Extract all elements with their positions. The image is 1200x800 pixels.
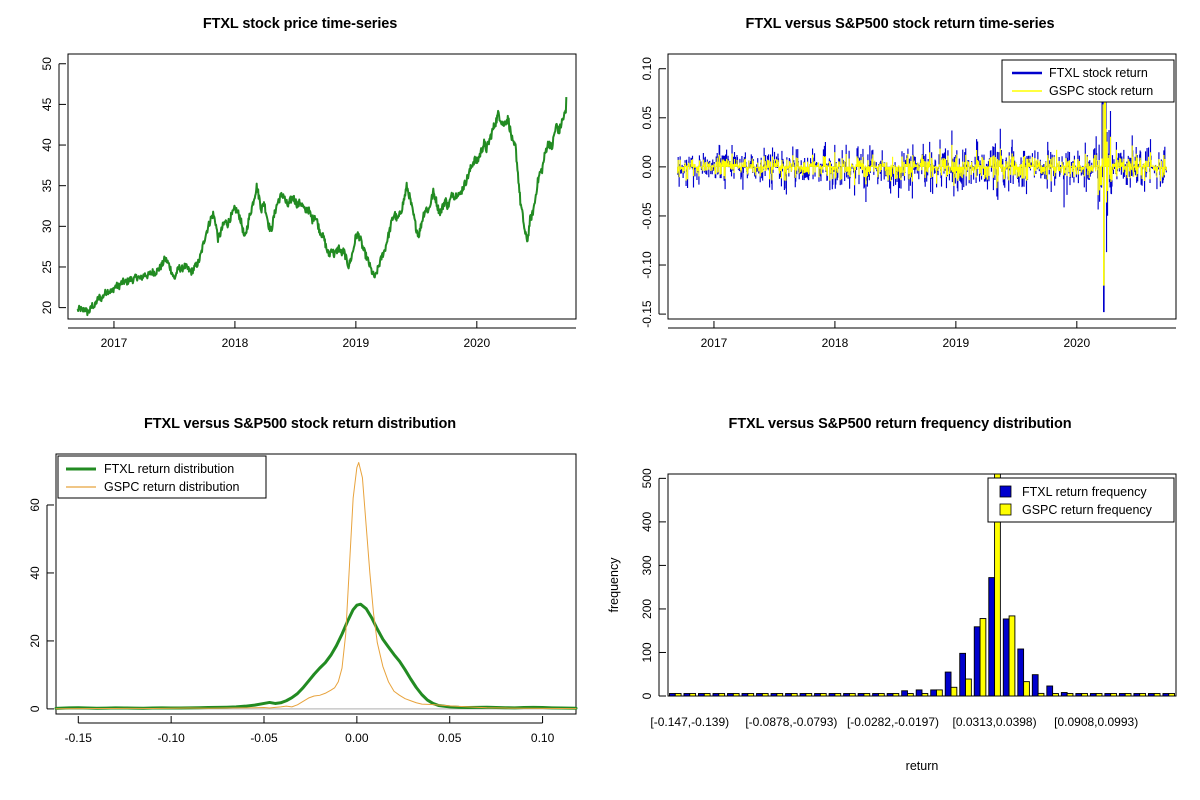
legend-swatch-ftxl-square — [1000, 486, 1011, 497]
bar-ftxl — [916, 690, 922, 696]
bar-ftxl — [1061, 693, 1067, 696]
y-tick-label: 40 — [28, 566, 42, 580]
legend-label-gspc: GSPC return frequency — [1022, 503, 1153, 517]
panel-3-plot: 0204060 -0.15-0.10-0.050.000.050.10 FTXL… — [0, 400, 600, 800]
bar-gspc — [791, 694, 797, 697]
legend-label-ftxl: FTXL stock return — [1049, 66, 1148, 80]
bar-ftxl — [786, 694, 792, 697]
x-tick-label: 0.05 — [438, 731, 462, 745]
legend-swatch-gspc-square — [1000, 504, 1011, 515]
x-tick-label: 0.10 — [531, 731, 555, 745]
bar-gspc — [980, 619, 986, 696]
bar-gspc — [922, 694, 928, 697]
panel-return-distribution: FTXL versus S&P500 stock return distribu… — [0, 400, 600, 800]
bar-gspc — [777, 694, 783, 697]
bar-gspc — [806, 694, 812, 697]
bar-gspc — [704, 694, 710, 697]
bar-ftxl — [873, 694, 879, 697]
bar-gspc — [719, 694, 725, 697]
bar-ftxl — [858, 694, 864, 697]
bar-gspc — [893, 694, 899, 697]
y-tick-label: -0.15 — [640, 300, 654, 328]
bar-ftxl — [684, 694, 690, 697]
panel-4-plot: 0100200300400500 [-0.147,-0.139)[-0.0878… — [600, 400, 1200, 800]
bar-ftxl — [1148, 694, 1154, 697]
bar-gspc — [1067, 694, 1073, 697]
bar-ftxl — [728, 694, 734, 697]
x-tick-label: 0.00 — [345, 731, 369, 745]
bar-gspc — [951, 687, 957, 696]
x-tick-label: [0.0908,0.0993) — [1054, 715, 1138, 729]
bar-ftxl — [815, 694, 821, 697]
y-tick-label: 25 — [40, 260, 54, 274]
x-tick-label: 2020 — [1063, 336, 1090, 350]
bar-gspc — [835, 694, 841, 697]
series-returns — [678, 77, 1167, 313]
x-tick-label: 2018 — [222, 336, 249, 350]
bar-gspc — [1140, 694, 1146, 697]
series-ftxl-price — [78, 97, 567, 315]
y-tick-label: 0 — [640, 692, 654, 699]
legend[interactable]: FTXL stock return GSPC stock return — [1002, 60, 1174, 102]
y-tick-label: 35 — [40, 179, 54, 193]
bar-ftxl — [1018, 649, 1024, 696]
bar-gspc — [762, 694, 768, 697]
bar-ftxl — [1003, 619, 1009, 696]
ftxl-return-spikes-path — [678, 82, 1167, 312]
bar-ftxl — [669, 694, 675, 697]
bar-ftxl — [1119, 694, 1125, 697]
bar-ftxl — [1090, 694, 1096, 697]
bar-ftxl — [931, 690, 937, 696]
bar-ftxl — [1032, 675, 1038, 696]
bar-gspc — [1038, 693, 1044, 696]
y-tick-label: 30 — [40, 219, 54, 233]
x-tick-label: [-0.0282,-0.0197) — [847, 715, 939, 729]
bar-gspc — [733, 694, 739, 697]
legend-label-ftxl: FTXL return frequency — [1022, 485, 1147, 499]
bar-ftxl — [829, 694, 835, 697]
y-axis-label: frequency — [607, 557, 621, 613]
bar-ftxl — [844, 694, 850, 697]
x-tick-label: 2019 — [343, 336, 370, 350]
y-tick-label: 45 — [40, 97, 54, 111]
bar-gspc — [820, 694, 826, 697]
price-line — [78, 97, 567, 315]
bar-gspc — [1154, 694, 1160, 697]
bar-gspc — [937, 690, 943, 696]
y-tick-label: 300 — [640, 555, 654, 575]
x-axis: [-0.147,-0.139)[-0.0878,-0.0793)[-0.0282… — [650, 715, 1138, 729]
y-tick-label: 0 — [28, 705, 42, 712]
bar-gspc — [1169, 694, 1175, 697]
legend[interactable]: FTXL return distribution GSPC return dis… — [58, 456, 266, 498]
bar-gspc — [1053, 694, 1059, 697]
bar-gspc — [849, 694, 855, 697]
figure-grid: FTXL stock price time-series 20253035404… — [0, 0, 1200, 800]
bar-ftxl — [698, 694, 704, 697]
legend-label-gspc: GSPC stock return — [1049, 84, 1153, 98]
y-tick-label: 0.00 — [640, 155, 654, 179]
x-axis: -0.15-0.10-0.050.000.050.10 — [65, 716, 555, 745]
bar-gspc — [878, 694, 884, 697]
bar-gspc — [748, 694, 754, 697]
y-tick-label: 20 — [40, 301, 54, 315]
bar-ftxl — [887, 694, 893, 697]
bar-ftxl — [1105, 694, 1111, 697]
x-axis: 2017201820192020 — [68, 321, 576, 350]
bar-gspc — [690, 694, 696, 697]
series-densities — [56, 463, 576, 709]
x-tick-label: 2019 — [943, 336, 970, 350]
ftxl-return-spikes — [678, 82, 1167, 312]
ftxl-density-line — [56, 604, 576, 708]
y-tick-label: 500 — [640, 468, 654, 488]
panel-ftxl-vs-sp500-returns: FTXL versus S&P500 stock return time-ser… — [600, 0, 1200, 400]
x-tick-label: [-0.147,-0.139) — [650, 715, 729, 729]
panel-2-plot: -0.15-0.10-0.050.000.050.10 201720182019… — [600, 0, 1200, 400]
y-tick-label: 100 — [640, 642, 654, 662]
x-tick-label: -0.10 — [157, 731, 185, 745]
bar-gspc — [1111, 694, 1117, 697]
y-tick-label: -0.10 — [640, 251, 654, 279]
gspc-return-spikes — [678, 77, 1167, 286]
bar-ftxl — [800, 694, 806, 697]
bar-ftxl — [945, 672, 951, 696]
y-tick-label: -0.05 — [640, 202, 654, 230]
x-axis: 2017201820192020 — [668, 321, 1176, 350]
x-tick-label: 2017 — [701, 336, 728, 350]
legend-label-ftxl: FTXL return distribution — [104, 462, 234, 476]
bar-ftxl — [757, 694, 763, 697]
x-tick-label: [0.0313,0.0398) — [953, 715, 1037, 729]
panel-ftxl-stock-price: FTXL stock price time-series 20253035404… — [0, 0, 600, 400]
y-axis: 0204060 — [28, 498, 54, 712]
bar-gspc — [1009, 616, 1015, 696]
bar-gspc — [1096, 694, 1102, 697]
bar-ftxl — [974, 627, 980, 696]
x-tick-label: -0.15 — [65, 731, 93, 745]
y-tick-label: 60 — [28, 498, 42, 512]
bar-gspc — [675, 694, 681, 697]
bar-gspc — [1082, 694, 1088, 697]
x-axis-label: return — [906, 759, 939, 773]
bar-ftxl — [742, 694, 748, 697]
gspc-return-spikes-path — [678, 77, 1167, 286]
x-tick-label: 2018 — [822, 336, 849, 350]
bar-gspc — [966, 679, 972, 696]
bar-gspc — [864, 694, 870, 697]
y-axis: 20253035404550 — [40, 57, 66, 315]
y-axis: -0.15-0.10-0.050.000.050.10 — [640, 57, 666, 328]
y-tick-label: 40 — [40, 138, 54, 152]
panel-1-plot: 20253035404550 2017201820192020 — [0, 0, 600, 400]
plot-frame — [68, 54, 576, 319]
bar-ftxl — [902, 691, 908, 696]
x-tick-label: [-0.0878,-0.0793) — [745, 715, 837, 729]
bar-ftxl — [960, 653, 966, 696]
bar-ftxl — [1047, 686, 1053, 696]
x-tick-label: 2017 — [101, 336, 128, 350]
bar-ftxl — [989, 578, 995, 696]
y-axis: 0100200300400500 — [640, 468, 666, 699]
bar-ftxl — [713, 694, 719, 697]
legend[interactable]: FTXL return frequency GSPC return freque… — [988, 478, 1174, 522]
y-tick-label: 20 — [28, 634, 42, 648]
legend-label-gspc: GSPC return distribution — [104, 480, 240, 494]
bar-ftxl — [1163, 694, 1169, 697]
y-tick-label: 400 — [640, 512, 654, 532]
y-tick-label: 0.10 — [640, 57, 654, 81]
y-tick-label: 200 — [640, 599, 654, 619]
bar-gspc — [1125, 694, 1131, 697]
y-tick-label: 50 — [40, 57, 54, 71]
bar-ftxl — [1076, 694, 1082, 697]
bar-gspc — [1024, 682, 1030, 696]
bar-ftxl — [1134, 694, 1140, 697]
x-tick-label: -0.05 — [250, 731, 278, 745]
x-tick-label: 2020 — [463, 336, 490, 350]
bar-gspc — [907, 694, 913, 697]
y-tick-label: 0.05 — [640, 106, 654, 130]
bar-ftxl — [771, 694, 777, 697]
panel-return-frequency: FTXL versus S&P500 return frequency dist… — [600, 400, 1200, 800]
